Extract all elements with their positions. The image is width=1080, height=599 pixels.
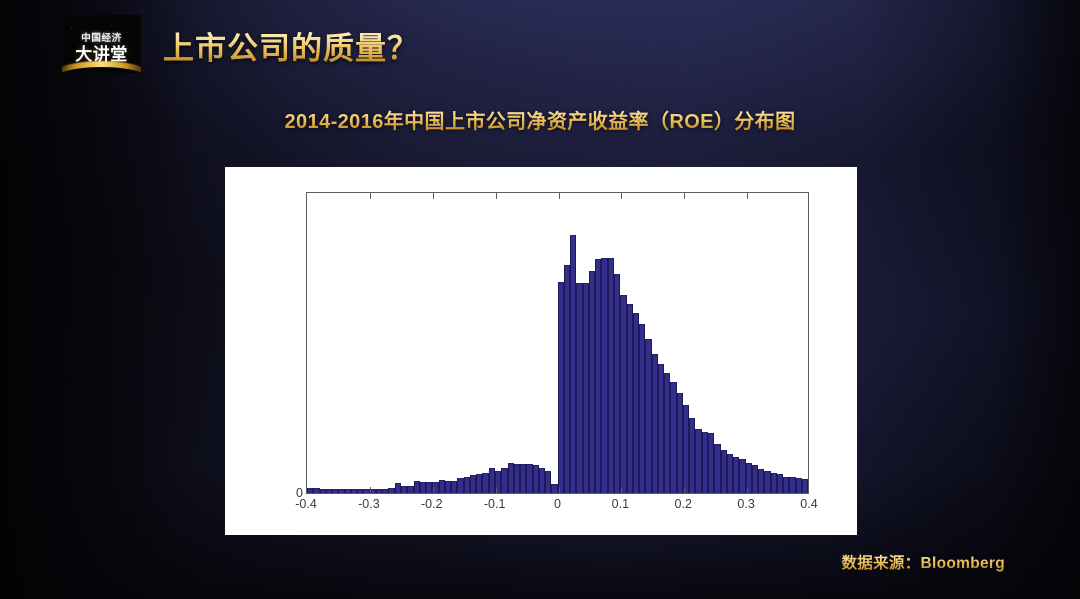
x-axis-tick-top bbox=[559, 193, 560, 199]
x-axis-tick-label: 0 bbox=[554, 497, 561, 511]
x-axis-tick-top bbox=[496, 193, 497, 199]
x-axis-tick-bottom bbox=[621, 487, 622, 493]
x-axis-tick-bottom bbox=[747, 487, 748, 493]
x-axis-tick-bottom bbox=[559, 487, 560, 493]
x-axis-tick-label: -0.3 bbox=[358, 497, 380, 511]
chart-title: 2014-2016年中国上市公司净资产收益率（ROE）分布图 bbox=[0, 105, 1080, 134]
y-axis-tick-label-zero: 0 bbox=[291, 486, 303, 500]
x-axis-tick-bottom bbox=[496, 487, 497, 493]
page-title: 上市公司的质量？ bbox=[163, 30, 419, 67]
histogram-bars bbox=[307, 193, 808, 493]
x-axis-tick-label: 0.4 bbox=[800, 497, 817, 511]
x-axis-tick-top bbox=[370, 193, 371, 199]
x-axis-tick-top bbox=[684, 193, 685, 199]
x-axis-tick-bottom bbox=[370, 487, 371, 493]
x-axis-tick-label: 0.3 bbox=[737, 497, 754, 511]
x-axis-tick-label: -0.2 bbox=[421, 497, 443, 511]
x-axis-tick-label: 0.1 bbox=[612, 497, 629, 511]
chart-panel: -0.4-0.3-0.2-0.100.10.20.30.4 0 bbox=[225, 167, 857, 535]
slide-canvas: 中国经济 大讲堂 上市公司的质量？ 2014-2016年中国上市公司净资产收益率… bbox=[0, 0, 1080, 599]
source-note: 数据来源：Bloomberg bbox=[841, 551, 1005, 573]
x-axis-tick-top bbox=[433, 193, 434, 199]
x-axis-tick-bottom bbox=[684, 487, 685, 493]
x-axis-tick-top bbox=[747, 193, 748, 199]
x-axis-tick-bottom bbox=[433, 487, 434, 493]
brand-logo: 中国经济 大讲堂 bbox=[62, 15, 141, 73]
x-axis-tick-top bbox=[621, 193, 622, 199]
histogram-plot-area bbox=[306, 192, 809, 494]
histogram-bar bbox=[802, 479, 808, 493]
x-axis-tick-label: -0.1 bbox=[484, 497, 506, 511]
x-axis-tick-label: 0.2 bbox=[675, 497, 692, 511]
